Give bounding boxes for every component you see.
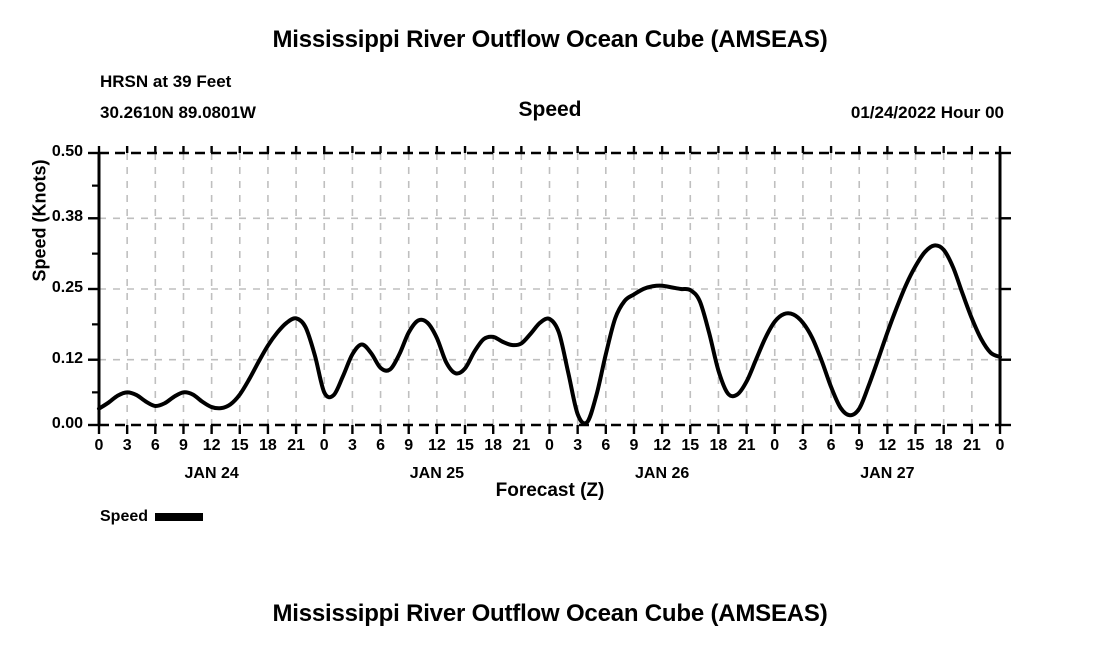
x-tick-label: 0 <box>84 437 114 455</box>
x-tick-label: 9 <box>844 437 874 455</box>
x-tick-label: 18 <box>929 437 959 455</box>
x-tick-label: 0 <box>985 437 1015 455</box>
chart-page: Mississippi River Outflow Ocean Cube (AM… <box>0 0 1100 650</box>
plot-area: Speed (Knots) Forecast (Z) 0.000.120.250… <box>0 0 1100 560</box>
x-tick-label: 9 <box>394 437 424 455</box>
x-tick-label: 18 <box>703 437 733 455</box>
x-tick-label: 3 <box>112 437 142 455</box>
x-tick-label: 15 <box>450 437 480 455</box>
x-tick-label: 15 <box>675 437 705 455</box>
x-tick-label: 6 <box>366 437 396 455</box>
y-tick-label: 0.00 <box>31 415 83 433</box>
x-tick-label: 18 <box>478 437 508 455</box>
y-tick-label: 0.38 <box>31 208 83 226</box>
x-axis-day-label: JAN 25 <box>382 465 492 483</box>
x-tick-label: 18 <box>253 437 283 455</box>
legend-swatch-speed <box>155 513 203 521</box>
x-tick-label: 9 <box>168 437 198 455</box>
x-tick-label: 3 <box>563 437 593 455</box>
x-axis-day-label: JAN 26 <box>607 465 717 483</box>
x-tick-label: 6 <box>816 437 846 455</box>
x-tick-label: 0 <box>309 437 339 455</box>
x-tick-label: 12 <box>197 437 227 455</box>
y-tick-label: 0.50 <box>31 143 83 161</box>
footer-title: Mississippi River Outflow Ocean Cube (AM… <box>0 600 1100 628</box>
x-tick-label: 0 <box>535 437 565 455</box>
x-axis-day-label: JAN 27 <box>832 465 942 483</box>
x-tick-label: 9 <box>619 437 649 455</box>
x-tick-label: 6 <box>591 437 621 455</box>
x-tick-label: 0 <box>760 437 790 455</box>
x-axis-title: Forecast (Z) <box>340 480 760 502</box>
y-tick-label: 0.12 <box>31 350 83 368</box>
x-tick-label: 12 <box>872 437 902 455</box>
x-axis-day-label: JAN 24 <box>157 465 267 483</box>
x-tick-label: 3 <box>788 437 818 455</box>
y-tick-label: 0.25 <box>31 279 83 297</box>
x-tick-label: 21 <box>957 437 987 455</box>
x-tick-label: 15 <box>225 437 255 455</box>
x-tick-label: 15 <box>901 437 931 455</box>
x-tick-label: 21 <box>281 437 311 455</box>
legend-label-speed: Speed <box>100 508 148 526</box>
x-tick-label: 3 <box>337 437 367 455</box>
x-tick-label: 12 <box>422 437 452 455</box>
legend: Speed <box>100 508 203 526</box>
x-tick-label: 21 <box>506 437 536 455</box>
x-tick-label: 12 <box>647 437 677 455</box>
x-tick-label: 6 <box>140 437 170 455</box>
x-tick-label: 21 <box>732 437 762 455</box>
